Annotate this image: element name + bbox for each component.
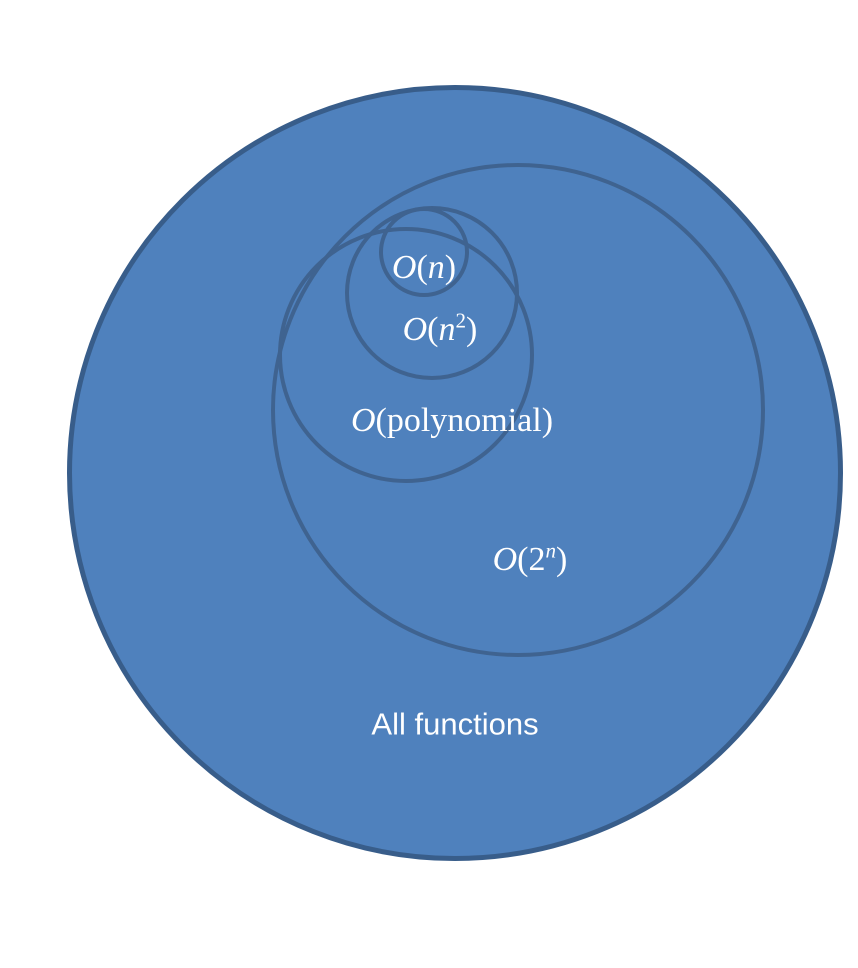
- label-o-n-squared-open-paren: (: [427, 311, 438, 348]
- label-o-2-to-the-n: O(2n): [493, 543, 568, 577]
- label-o-polynomial-open-paren: (: [376, 402, 387, 439]
- label-o-n-close-paren: ): [445, 249, 456, 286]
- label-o-polynomial-inner: polynomial: [387, 402, 542, 439]
- label-o-n-open-paren: (: [416, 249, 427, 286]
- label-o-2-to-the-n-close-paren: ): [556, 541, 567, 578]
- label-o-polynomial-bigo: O: [351, 402, 376, 439]
- label-o-n-squared-base: n: [439, 311, 456, 348]
- label-o-n-inner: n: [428, 249, 445, 286]
- label-o-2-to-the-n-bigo: O: [493, 541, 518, 578]
- diagram-canvas: O(n) O(n2) O(polynomial) O(2n) All funct…: [0, 0, 858, 968]
- label-o-n: O(n): [392, 251, 456, 285]
- venn-diagram-svg: [0, 0, 858, 968]
- label-o-2-to-the-n-base: 2: [529, 541, 546, 578]
- label-o-2-to-the-n-open-paren: (: [517, 541, 528, 578]
- label-o-n-bigo: O: [392, 249, 417, 286]
- label-all-functions: All functions: [371, 709, 538, 740]
- label-o-polynomial-close-paren: ): [542, 402, 553, 439]
- label-o-n-squared-exponent: 2: [456, 309, 467, 333]
- label-o-2-to-the-n-exponent: n: [546, 539, 557, 563]
- label-o-n-squared-bigo: O: [403, 311, 428, 348]
- label-o-n-squared: O(n2): [403, 313, 478, 347]
- label-o-n-squared-close-paren: ): [466, 311, 477, 348]
- label-o-polynomial: O(polynomial): [351, 404, 553, 438]
